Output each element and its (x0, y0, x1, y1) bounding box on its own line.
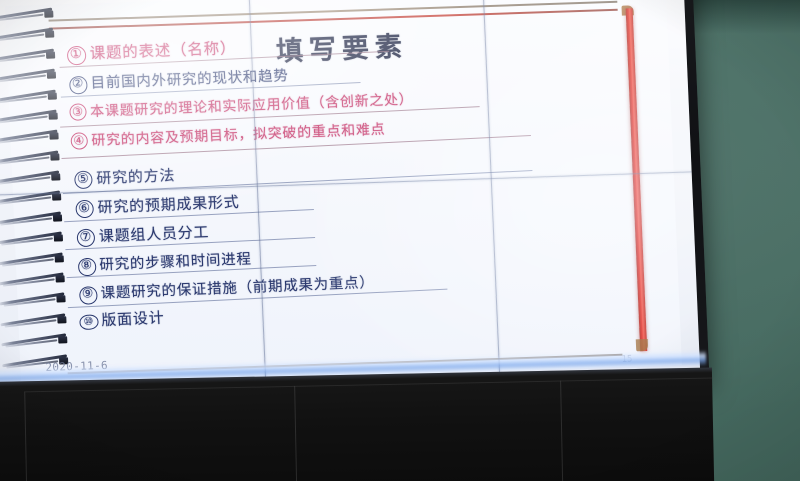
list-item-number: ⑤ (74, 170, 94, 190)
list-item-number: ④ (70, 132, 89, 150)
spiral-coil (0, 133, 58, 144)
spiral-coil (0, 51, 54, 62)
spiral-coil (0, 316, 66, 327)
spiral-coil (0, 92, 56, 103)
spiral-coil (0, 112, 57, 123)
bookmark-ribbon (626, 8, 648, 351)
list-item-number: ⑦ (76, 228, 96, 248)
spiral-coil (0, 10, 53, 21)
list-item: ⑤研究的方法 (74, 164, 176, 189)
list-item-number: ⑩ (79, 314, 99, 331)
cabinet-door-1 (24, 386, 297, 481)
spiral-coil (0, 235, 62, 246)
photo-scene: 填写要素 ①课题的表述（名称）②目前国内外研究的现状和趋势③本课题研究的理论和实… (0, 0, 800, 481)
spiral-coil (0, 194, 60, 205)
spiral-coil (0, 72, 55, 83)
spiral-coil (0, 255, 63, 266)
lower-cabinet (0, 368, 714, 481)
display-screen[interactable]: 填写要素 ①课题的表述（名称）②目前国内外研究的现状和趋势③本课题研究的理论和实… (0, 0, 700, 396)
projected-slide: 填写要素 ①课题的表述（名称）②目前国内外研究的现状和趋势③本课题研究的理论和实… (0, 0, 700, 396)
spiral-coil (0, 214, 61, 225)
spiral-coil (1, 336, 67, 347)
spiral-coil (0, 296, 65, 307)
list-item-number: ⑨ (79, 286, 98, 305)
list-item-number: ⑧ (78, 257, 97, 276)
spiral-coil (0, 275, 64, 286)
video-wall: 填写要素 ①课题的表述（名称）②目前国内外研究的现状和趋势③本课题研究的理论和实… (0, 0, 710, 406)
list-item-number: ③ (69, 103, 88, 121)
list-item-number: ① (67, 45, 87, 65)
list-item-text: 研究的方法 (96, 164, 176, 188)
spiral-coil (0, 153, 59, 164)
list-item-number: ⑥ (75, 199, 95, 219)
cabinet-door-3 (560, 377, 715, 481)
slide-title: 填写要素 (275, 24, 409, 68)
spiral-coil (0, 31, 53, 42)
list-item: ⑩版面设计 (79, 307, 165, 331)
list-item-number: ② (69, 76, 88, 95)
spiral-coil (0, 173, 60, 184)
cabinet-door-2 (294, 381, 563, 481)
list-item-text: 版面设计 (101, 307, 165, 331)
